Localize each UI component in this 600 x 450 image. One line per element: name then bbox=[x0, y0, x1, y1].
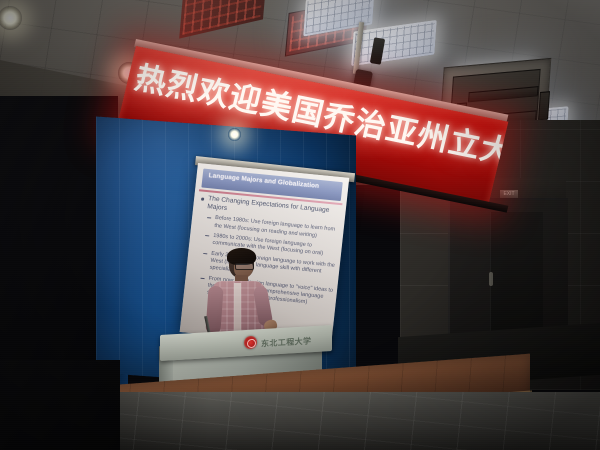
recessed-spotlight-3 bbox=[228, 128, 241, 141]
slide-title: Language Majors and Globalization bbox=[208, 172, 339, 192]
door-handle[interactable] bbox=[489, 272, 493, 286]
ac-vent bbox=[468, 86, 538, 102]
lecture-hall-photo: EXIT 热烈欢迎美国乔治亚州立大学张琛奕副教授 Language Majors… bbox=[0, 0, 600, 450]
eyeglasses-icon bbox=[235, 263, 254, 270]
ac-vent bbox=[538, 91, 550, 120]
floor-shadow-left bbox=[0, 360, 120, 450]
